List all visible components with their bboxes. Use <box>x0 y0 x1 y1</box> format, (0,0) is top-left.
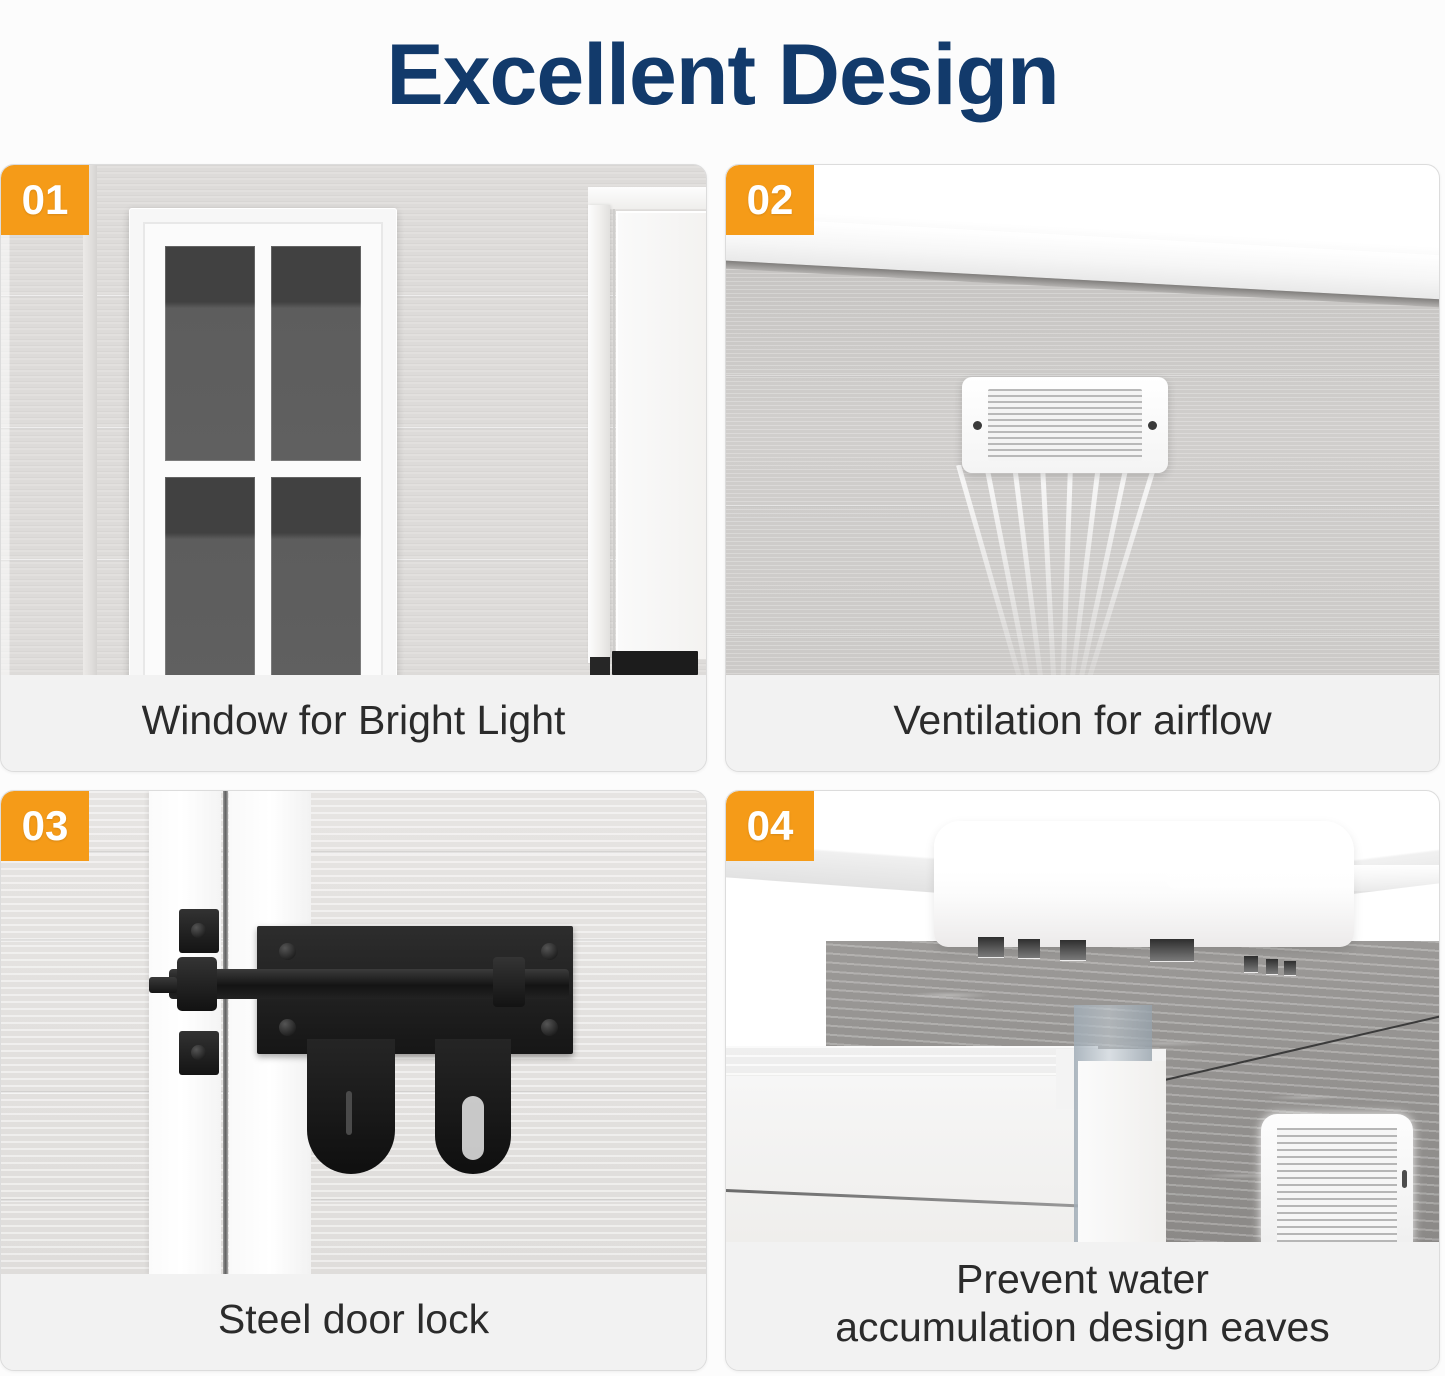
lock-screw-icon <box>279 1019 296 1036</box>
door-foot-bracket <box>590 657 610 675</box>
vent-screw-icon <box>973 421 982 430</box>
wall-vent <box>962 377 1168 473</box>
keeper-screw-icon <box>191 923 206 938</box>
drainage-slot <box>1060 940 1086 960</box>
badge-number-04: 04 <box>726 791 814 861</box>
door-jamb <box>588 205 610 663</box>
window-pane <box>165 477 255 675</box>
badge-number-02: 02 <box>726 165 814 235</box>
cap-highlight <box>1166 865 1439 891</box>
vent-screw-icon <box>1148 421 1157 430</box>
padlock-slot <box>462 1096 484 1160</box>
door-reveal-line <box>613 209 615 659</box>
badge-number-03: 03 <box>1 791 89 861</box>
drainage-slot <box>1018 939 1040 958</box>
door-threshold <box>612 651 698 675</box>
eaves-scene <box>726 791 1439 1242</box>
shed-vent-photo <box>726 165 1439 675</box>
window-inner-frame <box>143 222 383 675</box>
page-title: Excellent Design <box>0 0 1445 150</box>
window-pane <box>165 246 255 461</box>
lock-rod-collar <box>177 957 217 1011</box>
airflow-ray <box>1059 465 1073 675</box>
infographic-page: Excellent Design 01 <box>0 0 1445 1376</box>
drainage-slot <box>1266 959 1278 974</box>
feature-card-03[interactable]: 03 <box>0 790 707 1371</box>
airflow-ray <box>1040 465 1059 675</box>
lock-screw-icon <box>541 943 558 960</box>
caption-04: Prevent water accumulation design eaves <box>726 1242 1439 1370</box>
lock-screw-icon <box>279 943 296 960</box>
caption-02: Ventilation for airflow <box>726 675 1439 771</box>
vent-louvers <box>988 389 1142 461</box>
drainage-slot <box>1150 939 1194 961</box>
badge-number-01: 01 <box>1 165 89 235</box>
keeper-screw-icon <box>191 1045 206 1060</box>
lock-keeper-top <box>179 909 219 953</box>
airflow-rays <box>926 465 1206 675</box>
caption-01: Window for Bright Light <box>1 675 706 771</box>
feature-card-grid: 01 <box>0 152 1445 1376</box>
lock-tab-nick <box>346 1091 352 1135</box>
feature-card-04[interactable]: 04 <box>725 790 1440 1371</box>
lower-wall-vent <box>1261 1114 1413 1242</box>
lock-rod-collar <box>493 957 525 1007</box>
door-panel <box>616 211 706 659</box>
window-pane <box>271 477 361 675</box>
window-frame <box>129 208 397 675</box>
door-frame-edge <box>580 179 698 675</box>
shed-window-photo <box>1 165 706 675</box>
lock-screw-icon <box>541 1019 558 1036</box>
drainage-slot <box>978 937 1004 957</box>
feature-card-01[interactable]: 01 <box>0 164 707 772</box>
slide-bolt-lock <box>1 791 706 1274</box>
drainage-slot <box>1244 956 1258 972</box>
lock-keeper-bottom <box>179 1031 219 1075</box>
corner-post <box>1078 1061 1166 1242</box>
feature-card-02[interactable]: 02 <box>725 164 1440 772</box>
window-pane-grid <box>165 246 361 675</box>
shed-eaves-photo <box>726 791 1439 1242</box>
vent-louvers <box>1277 1128 1397 1242</box>
siding-corner-trim <box>83 165 97 675</box>
caption-03: Steel door lock <box>1 1274 706 1370</box>
roof-corner-cap <box>934 821 1354 947</box>
drainage-slot <box>1284 961 1296 975</box>
shed-door-lock-photo <box>1 791 706 1274</box>
vent-screw-icon <box>1402 1170 1407 1188</box>
lock-rod-tip <box>149 977 177 993</box>
window-pane <box>271 246 361 461</box>
